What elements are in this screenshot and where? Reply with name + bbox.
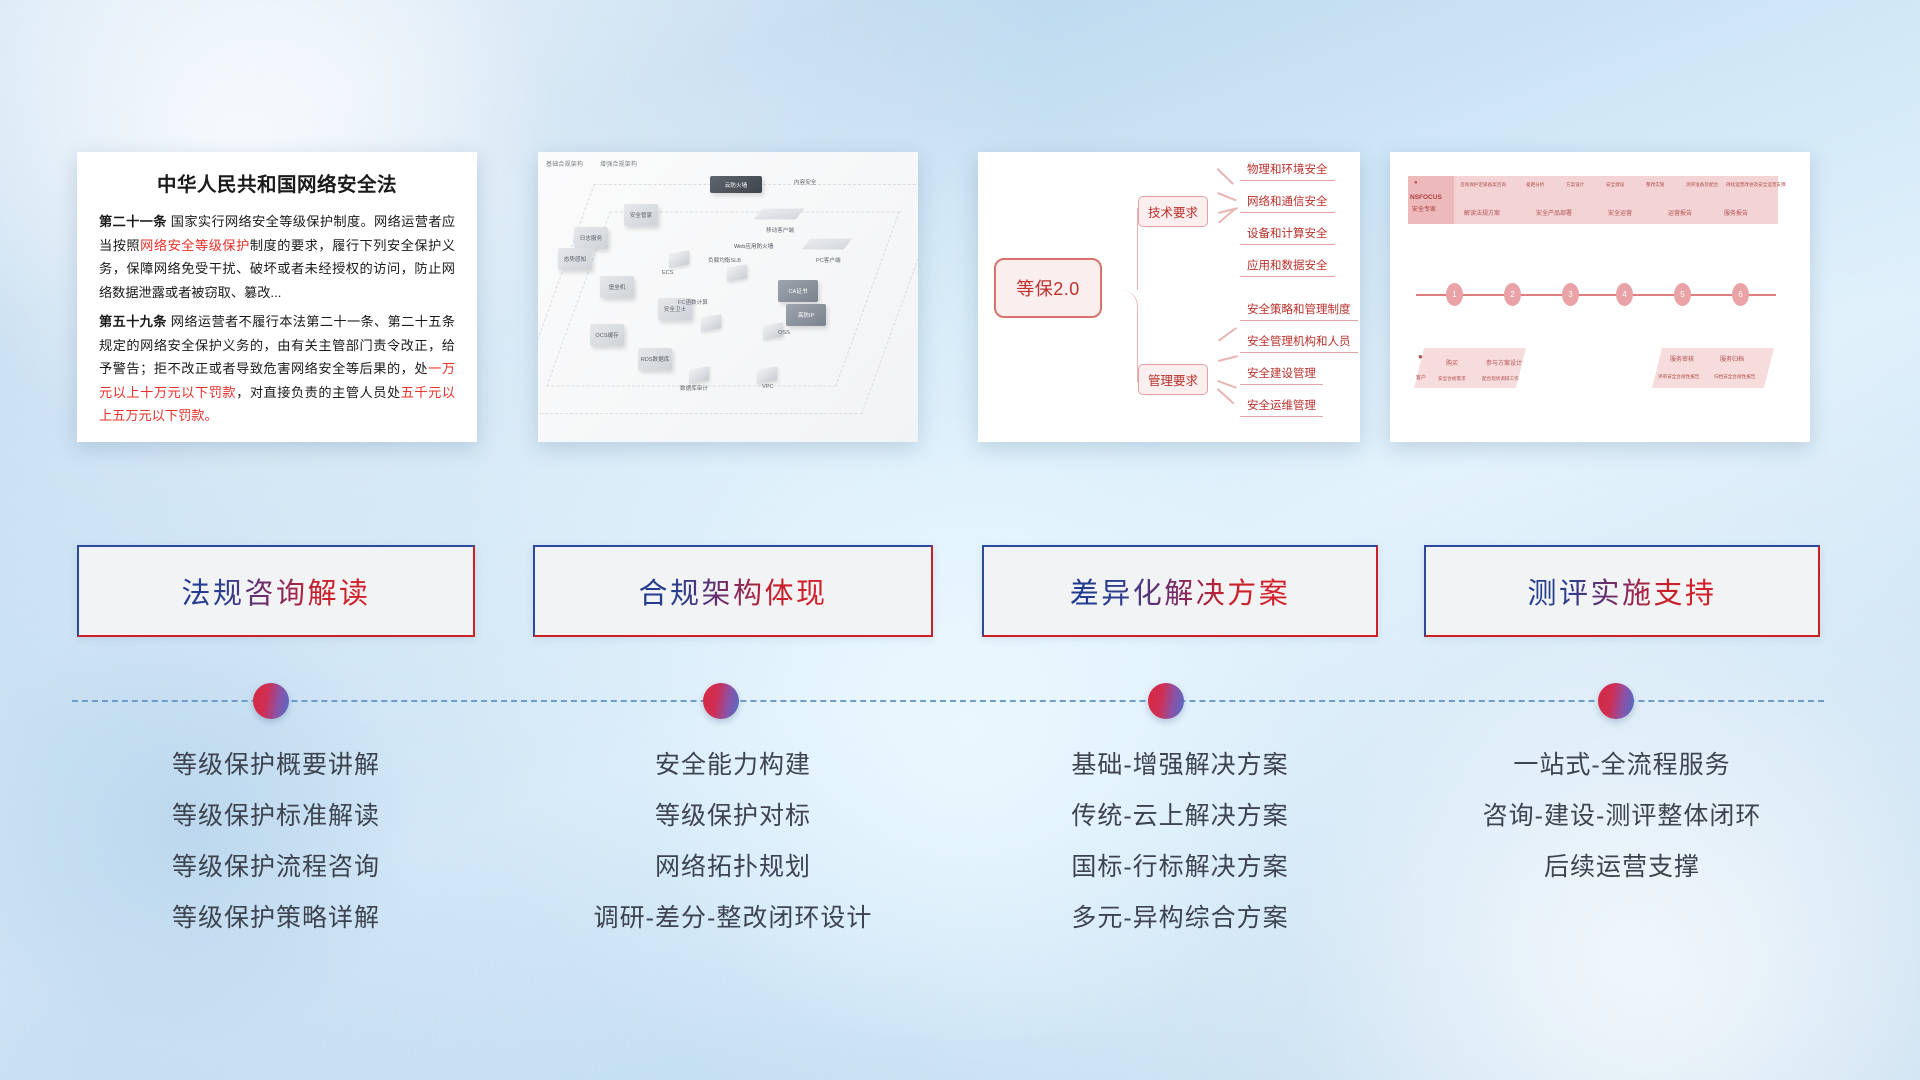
arch-node-ocs: OCS缓存	[590, 324, 624, 346]
roadmap-step-5: 5	[1674, 283, 1691, 306]
arch-label-pc: PC客户端	[816, 256, 841, 264]
arch-node-rds-label: RDS数据库	[638, 355, 672, 363]
law-title: 中华人民共和国网络安全法	[99, 168, 455, 197]
roadmap-step-2: 2	[1504, 283, 1521, 306]
feature-item: 等级保护标准解读	[77, 791, 475, 842]
arch-node-logservice: 日志服务	[574, 227, 608, 249]
feature-item: 等级保护流程咨询	[77, 842, 475, 893]
roadmap-bottom-left-band	[1414, 348, 1526, 388]
arch-node-ca: CA证书	[778, 280, 818, 302]
roadmap-row-2: 安全产品部署	[1536, 208, 1572, 217]
architecture-diagram: 基础合规架构 增强合规架构 云防火墙 安全管家 日志服务 态势感知 堡垒机 OC…	[538, 152, 918, 442]
card-mindmap-dengbao[interactable]: 等保2.0 技术要求 管理要求 物理和环境安全 网络和通信安全 设备和计算安全 …	[978, 152, 1360, 442]
arch-label-enhanced: 增强合规架构	[600, 159, 637, 168]
roadmap-step-3: 3	[1562, 283, 1579, 306]
roadmap-chip-3: 方案设计	[1566, 182, 1584, 188]
feature-item: 安全能力构建	[533, 740, 933, 791]
title-box-1[interactable]: 法规咨询解读	[77, 545, 475, 637]
mindmap-link-mgmt-4	[1217, 388, 1234, 404]
roadmap-row-5: 服务报告	[1724, 208, 1748, 217]
arch-label-slb: 负载均衡SLB	[708, 256, 741, 264]
feature-item: 基础-增强解决方案	[982, 740, 1378, 791]
card-nsfocus-roadmap[interactable]: ● NSFOCUS 安全专家 咨询保护定级备案咨询 差距分析 方案设计 安全建设…	[1390, 152, 1810, 442]
mindmap-link-tech-1	[1217, 168, 1234, 184]
roadmap-br-caption-2: 归档安全合规性报告	[1714, 374, 1755, 380]
arch-cube-slb	[724, 262, 750, 282]
arch-node-firewall-label: 云防火墙	[710, 181, 762, 189]
arch-node-firewall: 云防火墙	[710, 176, 762, 193]
mindmap-leaf-mgmt-2: 安全管理机构和人员	[1240, 330, 1358, 353]
title-box-4[interactable]: 测评实施支持	[1424, 545, 1820, 637]
arch-cube-fc	[698, 312, 724, 332]
law-article-59-label: 第五十九条	[99, 314, 167, 329]
arch-node-ocs-label: OCS缓存	[590, 331, 624, 339]
roadmap-step-4: 4	[1616, 283, 1633, 306]
law-article-21-highlight: 网络安全等级保护	[140, 238, 250, 253]
mindmap-link-mgmt-3	[1217, 380, 1236, 388]
card-cybersecurity-law[interactable]: 中华人民共和国网络安全法 第二十一条 国家实行网络安全等级保护制度。网络运营者应…	[77, 152, 477, 442]
roadmap-customer-label: 客户	[1416, 374, 1426, 381]
roadmap-chip-6: 测评准备及配合	[1686, 182, 1718, 188]
title-box-2[interactable]: 合规架构体现	[533, 545, 933, 637]
roadmap-br-item-1: 服务审核	[1670, 354, 1694, 363]
arch-node-guard-label: 安全卫士	[658, 305, 692, 313]
feature-item: 国标-行标解决方案	[982, 842, 1378, 893]
timeline-dashed-line	[72, 700, 1824, 702]
feature-column-3: 基础-增强解决方案 传统-云上解决方案 国标-行标解决方案 多元-异构综合方案	[982, 740, 1378, 944]
roadmap-chip-2: 差距分析	[1526, 182, 1544, 188]
law-paragraph-21: 第二十一条 国家实行网络安全等级保护制度。网络运营者应当按照网络安全等级保护制度…	[99, 210, 455, 304]
arch-node-housekeeper-label: 安全管家	[624, 211, 658, 219]
mindmap-leaf-mgmt-4: 安全运维管理	[1240, 394, 1323, 417]
law-article-59-mid: ，对直接负责的主管人员处	[236, 385, 401, 400]
law-body: 中华人民共和国网络安全法 第二十一条 国家实行网络安全等级保护制度。网络运营者应…	[77, 152, 477, 442]
mindmap-leaf-tech-2: 网络和通信安全	[1240, 190, 1335, 213]
roadmap-diagram: ● NSFOCUS 安全专家 咨询保护定级备案咨询 差距分析 方案设计 安全建设…	[1390, 152, 1810, 442]
timeline-dot-1[interactable]	[253, 683, 289, 719]
roadmap-brand-sub: 安全专家	[1412, 204, 1436, 213]
arch-label-fc: FC函数计算	[678, 298, 708, 306]
title-box-4-label: 测评实施支持	[1527, 570, 1716, 612]
feature-column-4: 一站式-全流程服务 咨询-建设-测评整体闭环 后续运营支撑	[1424, 740, 1820, 893]
arch-label-basic: 基础合规架构	[546, 159, 583, 168]
roadmap-step-6: 6	[1732, 283, 1749, 306]
mindmap: 等保2.0 技术要求 管理要求 物理和环境安全 网络和通信安全 设备和计算安全 …	[978, 152, 1360, 442]
roadmap-br-item-2: 服务归档	[1720, 354, 1744, 363]
feature-item: 咨询-建设-测评整体闭环	[1424, 791, 1820, 842]
feature-item: 多元-异构综合方案	[982, 893, 1378, 944]
feature-item: 传统-云上解决方案	[982, 791, 1378, 842]
roadmap-bl-item-1: 购买	[1446, 358, 1458, 367]
arch-node-situational-label: 态势感知	[558, 255, 592, 263]
arch-node-rds: RDS数据库	[638, 348, 672, 370]
roadmap-row-1: 解读法规方案	[1464, 208, 1500, 217]
roadmap-brand-name: NSFOCUS	[1410, 194, 1442, 201]
law-paragraph-59: 第五十九条 网络运营者不履行本法第二十一条、第二十五条规定的网络安全保护义务的，…	[99, 310, 455, 428]
roadmap-axis	[1416, 294, 1776, 296]
feature-column-2: 安全能力构建 等级保护对标 网络拓扑规划 调研-差分-整改闭环设计	[533, 740, 933, 944]
arch-cube-dbaudit	[686, 364, 712, 384]
mindmap-branch-tech: 技术要求	[1138, 196, 1208, 227]
title-box-2-label: 合规架构体现	[638, 570, 827, 612]
feature-item: 网络拓扑规划	[533, 842, 933, 893]
mindmap-link-mgmt-1	[1218, 327, 1237, 341]
roadmap-step-1: 1	[1446, 283, 1463, 306]
mindmap-leaf-mgmt-3: 安全建设管理	[1240, 362, 1323, 385]
roadmap-bl-item-2: 参与方案设计	[1486, 358, 1522, 367]
feature-item: 等级保护概要讲解	[77, 740, 475, 791]
mindmap-root-node: 等保2.0	[994, 258, 1102, 318]
arch-label-waf: Web应用防火墙	[734, 242, 773, 250]
mindmap-leaf-mgmt-1: 安全策略和管理制度	[1240, 298, 1358, 321]
feature-item: 等级保护策略详解	[77, 893, 475, 944]
roadmap-chip-5: 整改实施	[1646, 182, 1664, 188]
feature-item: 后续运营支撑	[1424, 842, 1820, 893]
arch-plate-pc	[802, 239, 853, 250]
feature-item: 一站式-全流程服务	[1424, 740, 1820, 791]
screenshot-cards-row: 中华人民共和国网络安全法 第二十一条 国家实行网络安全等级保护制度。网络运营者应…	[0, 0, 1920, 440]
feature-column-1: 等级保护概要讲解 等级保护标准解读 等级保护流程咨询 等级保护策略详解	[77, 740, 475, 944]
roadmap-br-caption-1: 评审安全合规性报告	[1658, 374, 1699, 380]
title-box-1-label: 法规咨询解读	[181, 570, 370, 612]
timeline-dot-2[interactable]	[703, 683, 739, 719]
arch-node-bastion-label: 堡垒机	[600, 283, 634, 291]
roadmap-bl-caption-2: 配合现状调研工作	[1482, 376, 1519, 382]
arch-cube-vpc	[754, 364, 780, 384]
feature-item: 等级保护对标	[533, 791, 933, 842]
arch-node-antiddos: 高防IP	[786, 304, 826, 326]
mindmap-curve-mgmt	[1102, 290, 1138, 382]
title-box-3[interactable]: 差异化解决方案	[982, 545, 1378, 637]
roadmap-row-4: 运营报告	[1668, 208, 1692, 217]
roadmap-chip-7: 持续运营改进及安全运营支撑	[1726, 182, 1786, 188]
arch-label-oss: OSS	[778, 330, 790, 336]
card-compliance-architecture[interactable]: 基础合规架构 增强合规架构 云防火墙 安全管家 日志服务 态势感知 堡垒机 OC…	[538, 152, 918, 442]
roadmap-customer-icon: ●	[1418, 352, 1423, 361]
timeline-dot-4[interactable]	[1598, 683, 1634, 719]
mindmap-link-tech-2	[1217, 192, 1236, 201]
roadmap-bl-caption-1: 安全合规需求	[1438, 376, 1466, 382]
arch-cube-ecs	[666, 248, 692, 268]
roadmap-chip-4: 安全建设	[1606, 182, 1624, 188]
roadmap-chip-1: 咨询保护定级备案咨询	[1460, 182, 1506, 188]
arch-node-situational: 态势感知	[558, 248, 592, 270]
roadmap-person-icon: ●	[1414, 180, 1418, 186]
arch-label-mobile: 移动客户端	[766, 226, 794, 234]
arch-label-ecs: ECS	[662, 270, 674, 276]
mindmap-leaf-tech-3: 设备和计算安全	[1240, 222, 1335, 245]
mindmap-leaf-tech-4: 应用和数据安全	[1240, 254, 1335, 277]
title-box-3-label: 差异化解决方案	[1070, 570, 1291, 612]
arch-label-ca: CA证书	[778, 287, 818, 295]
arch-label-dbaudit: 数据库审计	[680, 384, 708, 392]
mindmap-leaf-tech-1: 物理和环境安全	[1240, 158, 1335, 181]
law-article-21-label: 第二十一条	[99, 214, 167, 229]
arch-label-antiddos: 高防IP	[786, 311, 826, 319]
mindmap-link-mgmt-2	[1218, 355, 1238, 361]
mindmap-curve-tech	[1102, 208, 1138, 290]
arch-node-housekeeper: 安全管家	[624, 204, 658, 226]
arch-node-bastion: 堡垒机	[600, 276, 634, 298]
mindmap-branch-mgmt: 管理要求	[1138, 364, 1208, 395]
arch-plate-mobile	[754, 209, 805, 220]
arch-node-logservice-label: 日志服务	[574, 234, 608, 242]
feature-item: 调研-差分-整改闭环设计	[533, 893, 933, 944]
roadmap-row-3: 安全运营	[1608, 208, 1632, 217]
timeline-dot-3[interactable]	[1148, 683, 1184, 719]
arch-label-vpc: VPC	[762, 384, 774, 390]
arch-label-content: 内容安全	[794, 178, 816, 186]
